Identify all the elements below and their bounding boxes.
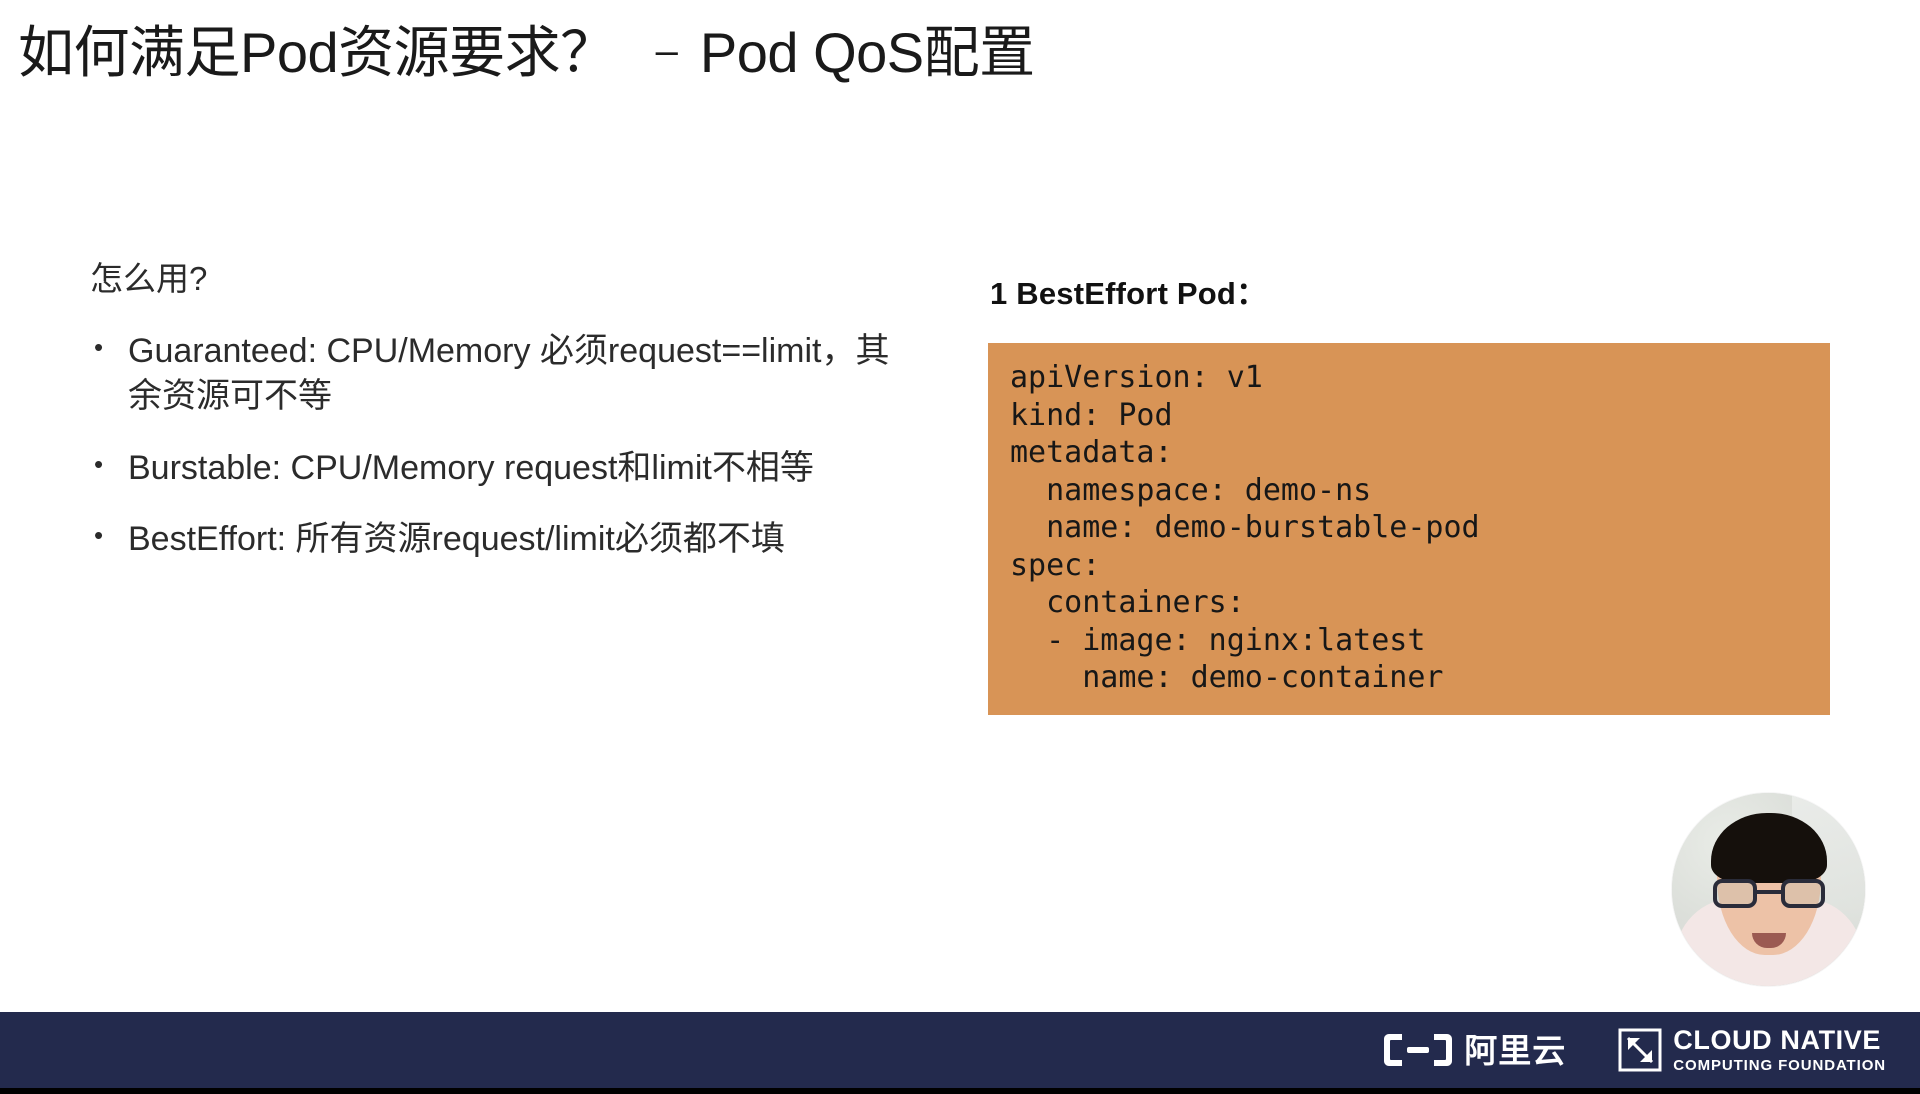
bullet-dot-icon: • [94,329,103,367]
footer-logo-group: 阿里云 CLOUD NATIVE COMPUTING FOUNDATION [1382,1027,1886,1073]
bullet-item-besteffort: • BestEffort: 所有资源request/limit必须都不填 [90,517,900,562]
bullet-dot-icon: • [94,517,103,555]
bullet-text-guaranteed: Guaranteed: CPU/Memory 必须request==limit，… [128,332,889,415]
cncf-logo-text: CLOUD NATIVE COMPUTING FOUNDATION [1673,1027,1886,1073]
left-content-column: 怎么用? • Guaranteed: CPU/Memory 必须request=… [90,258,900,588]
bullet-dot-icon: • [94,446,103,484]
bullet-text-besteffort: BestEffort: 所有资源request/limit必须都不填 [128,520,785,558]
presenter-glasses-icon [1713,879,1825,909]
slide-title-subtitle: Pod QoS配置 [700,8,1035,89]
cncf-logo-line2: COMPUTING FOUNDATION [1673,1058,1886,1073]
code-block-heading: 1 BestEffort Pod： [990,268,1838,313]
presenter-webcam-overlay [1672,793,1865,986]
slide-title: 如何满足Pod资源要求？ – Pod QoS配置 [18,8,1035,89]
bullet-item-guaranteed: • Guaranteed: CPU/Memory 必须request==limi… [90,329,900,419]
lead-question: 怎么用? [90,258,900,299]
right-content-column: 1 BestEffort Pod： apiVersion: v1 kind: P… [988,268,1838,745]
bullet-item-burstable: • Burstable: CPU/Memory request和limit不相等 [90,446,900,491]
qos-bullet-list: • Guaranteed: CPU/Memory 必须request==limi… [90,329,900,562]
cncf-mark-icon [1618,1028,1662,1072]
slide-title-main: 如何满足Pod资源要求？ [18,8,616,89]
alibaba-cloud-logo-text: 阿里云 [1464,1034,1566,1067]
pod-yaml-code-block: apiVersion: v1 kind: Pod metadata: names… [988,343,1830,715]
alibaba-cloud-mark-icon [1382,1030,1454,1070]
cncf-logo: CLOUD NATIVE COMPUTING FOUNDATION [1618,1027,1886,1073]
cncf-logo-line1: CLOUD NATIVE [1673,1027,1886,1054]
footer-bottom-strip [0,1088,1920,1094]
bullet-text-burstable: Burstable: CPU/Memory request和limit不相等 [128,449,814,487]
glasses-left-lens [1713,879,1757,908]
glasses-right-lens [1781,879,1825,908]
slide-footer-bar: 阿里云 CLOUD NATIVE COMPUTING FOUNDATION [0,1012,1920,1088]
glasses-bridge [1757,890,1781,894]
alibaba-cloud-logo: 阿里云 [1382,1030,1566,1070]
slide-title-separator: – [656,29,678,74]
presentation-slide: 如何满足Pod资源要求？ – Pod QoS配置 怎么用? • Guarante… [0,0,1920,1094]
